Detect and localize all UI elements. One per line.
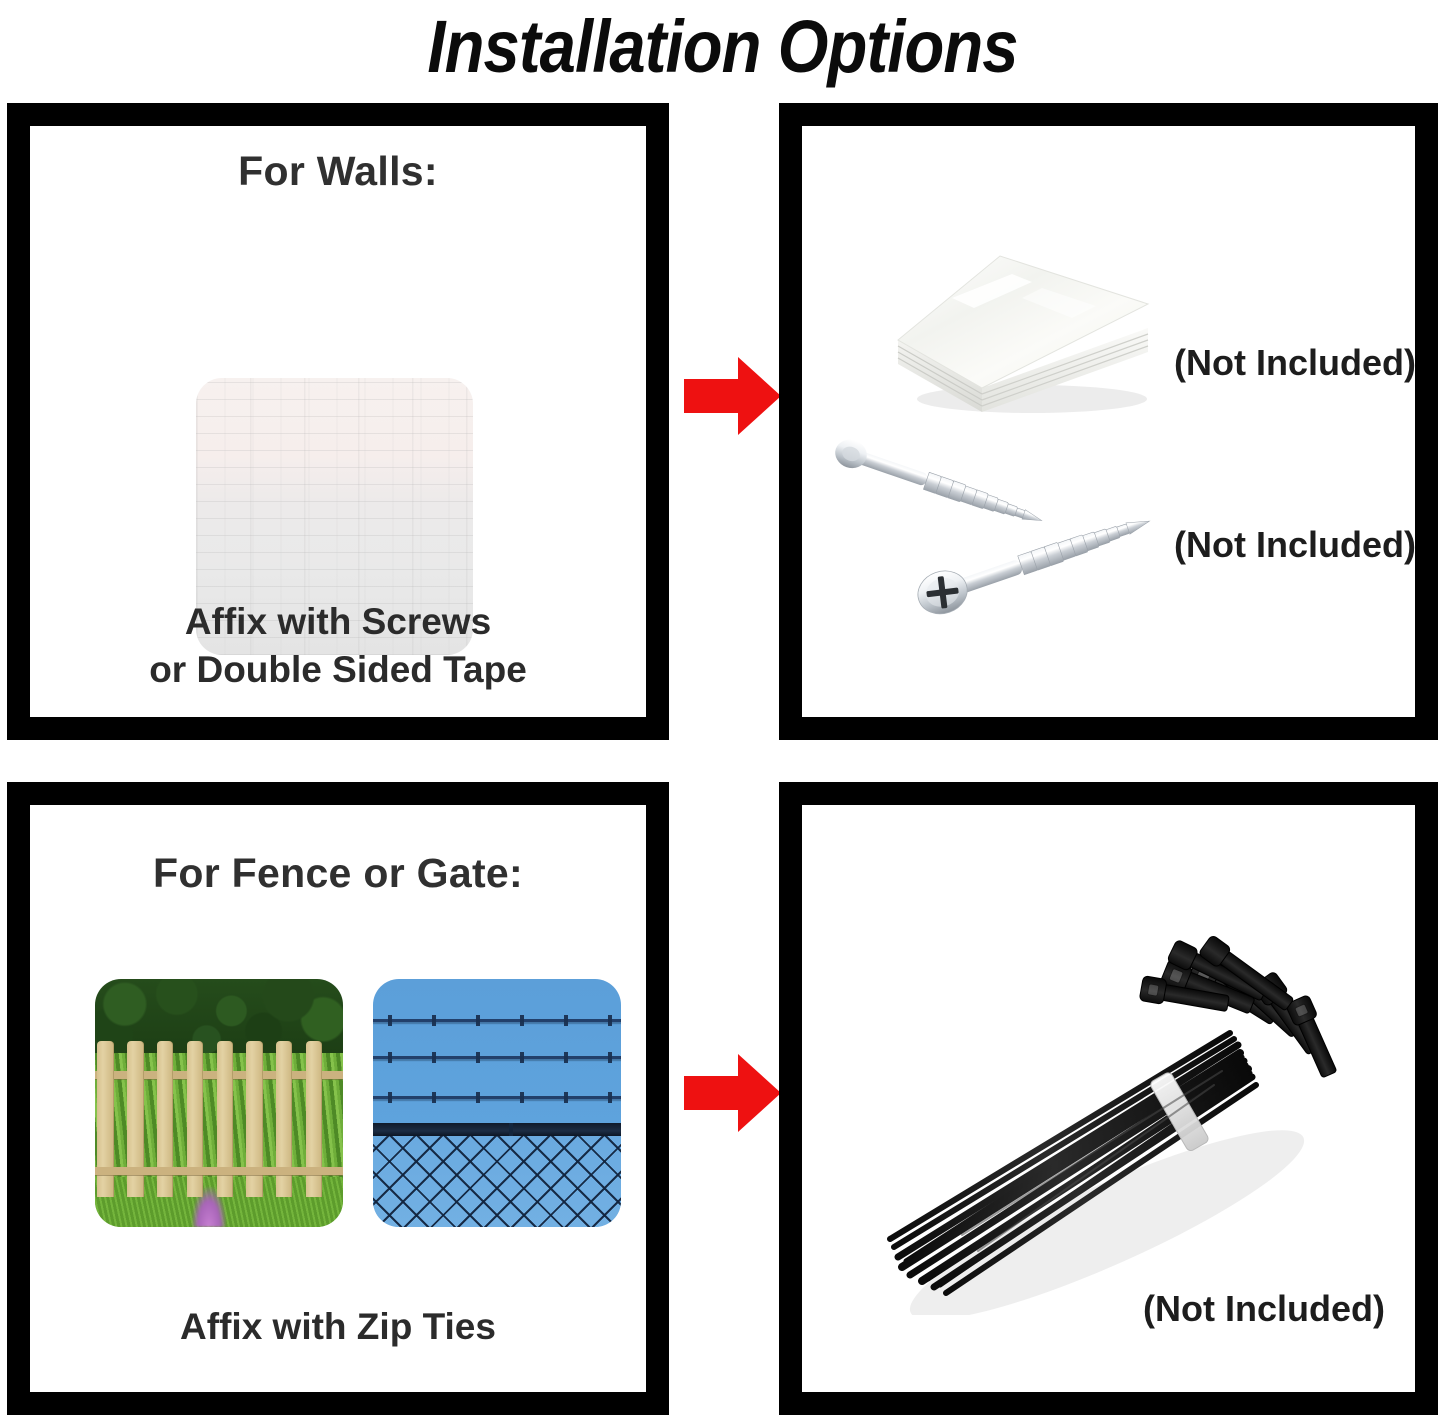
wooden-picket-fence-photo — [95, 979, 343, 1227]
for-walls-caption-line1: Affix with Screws — [30, 598, 646, 645]
zipties-not-included-label: (Not Included) — [1143, 1288, 1385, 1330]
panel-zip-ties: (Not Included) — [779, 782, 1438, 1415]
red-right-arrow-bottom — [680, 1049, 785, 1137]
red-right-arrow-top — [680, 352, 785, 440]
for-fence-caption: Affix with Zip Ties — [30, 1303, 646, 1350]
tape-not-included-label: (Not Included) — [1174, 342, 1416, 384]
chain-link-barbed-wire-fence-photo — [373, 979, 621, 1227]
black-zip-ties-bundle-photo — [842, 895, 1372, 1315]
for-walls-heading: For Walls: — [30, 148, 646, 195]
double-sided-tape-stack-photo — [882, 236, 1170, 424]
for-fence-or-gate-heading: For Fence or Gate: — [30, 850, 646, 897]
page-title: Installation Options — [87, 0, 1359, 92]
for-walls-caption-line2: or Double Sided Tape — [30, 646, 646, 693]
wood-screws-photo — [822, 426, 1202, 626]
panel-for-walls: For Walls: Affix with Screws or Double S… — [7, 103, 669, 740]
for-walls-caption: Affix with Screws or Double Sided Tape — [30, 598, 646, 693]
panel-for-fence-or-gate: For Fence or Gate: — [7, 782, 669, 1415]
panel-wall-fasteners: (Not Included) — [779, 103, 1438, 740]
screws-not-included-label: (Not Included) — [1174, 524, 1416, 566]
